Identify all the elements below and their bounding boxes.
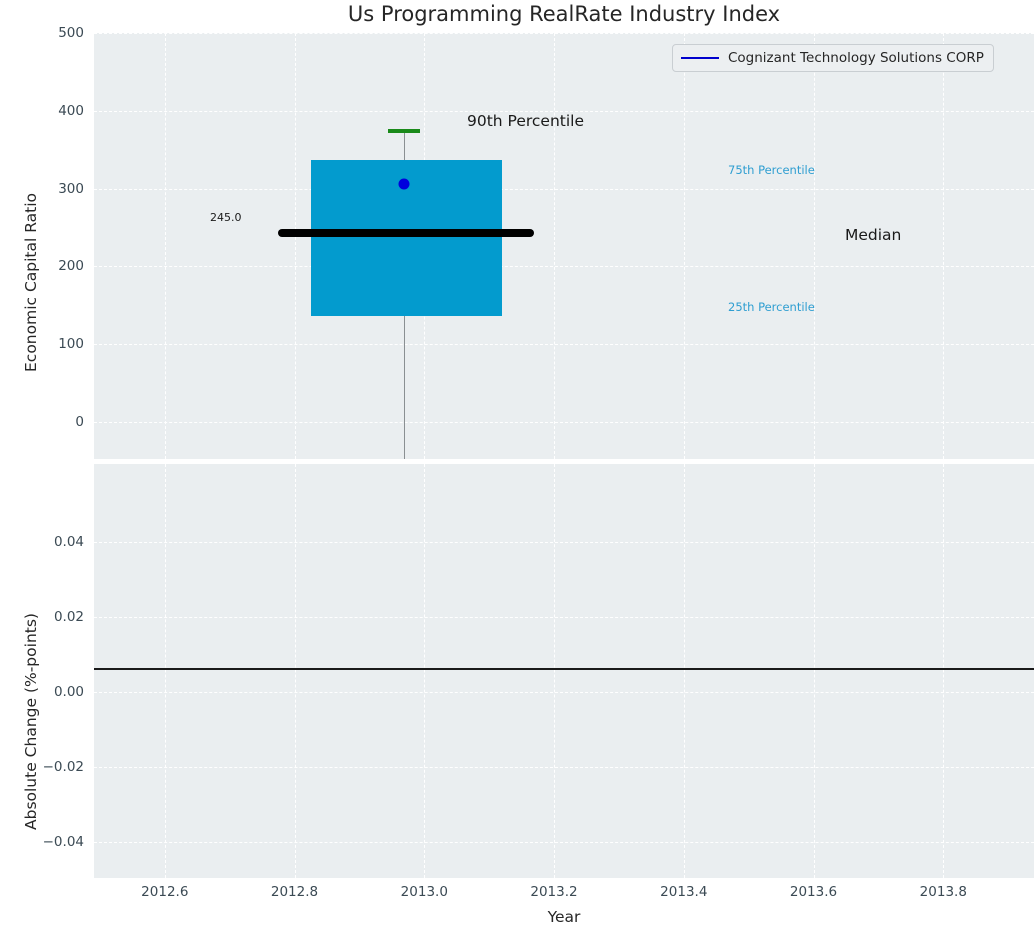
gridline-v <box>424 464 425 878</box>
figure: Us Programming RealRate Industry Index 2… <box>0 0 1034 942</box>
gridline-v <box>814 464 815 878</box>
gridline-h <box>94 842 1034 843</box>
legend-item-label: Cognizant Technology Solutions CORP <box>728 50 984 66</box>
gridline-v <box>165 33 166 459</box>
xtick-label: 2012.8 <box>271 884 318 900</box>
gridline-v <box>684 33 685 459</box>
annotation-25th-percentile: 25th Percentile <box>728 300 815 314</box>
gridline-h <box>94 266 1034 267</box>
xtick-label: 2013.2 <box>530 884 577 900</box>
gridline-h <box>94 189 1034 190</box>
absolute-change-plot-area <box>94 464 1034 878</box>
ytick-label: 0.04 <box>0 534 84 550</box>
gridline-v <box>684 464 685 878</box>
yaxis-label-economic-capital-ratio: Economic Capital Ratio <box>22 193 40 372</box>
ytick-label: −0.02 <box>0 759 84 775</box>
ytick-label: −0.04 <box>0 834 84 850</box>
xtick-label: 2013.4 <box>660 884 707 900</box>
gridline-h <box>94 617 1034 618</box>
xaxis-label-year: Year <box>94 908 1034 926</box>
median-line <box>278 229 534 237</box>
ytick-label: 200 <box>0 258 84 274</box>
gridline-v <box>165 464 166 878</box>
annotation-75th-percentile: 75th Percentile <box>728 163 815 177</box>
ytick-label: 0.00 <box>0 684 84 700</box>
yaxis-label-absolute-change: Absolute Change (%-points) <box>22 613 40 830</box>
annotation-median: Median <box>845 226 901 244</box>
ytick-label: 500 <box>0 25 84 41</box>
annotation-90th-percentile: 90th Percentile <box>467 112 584 130</box>
gridline-v <box>814 33 815 459</box>
legend[interactable]: Cognizant Technology Solutions CORP <box>672 44 994 72</box>
xtick-label: 2012.6 <box>141 884 188 900</box>
gridline-v <box>295 464 296 878</box>
gridline-h <box>94 422 1034 423</box>
ytick-label: 300 <box>0 181 84 197</box>
gridline-v <box>943 33 944 459</box>
gridline-h <box>94 33 1034 34</box>
whisker-cap-90th <box>388 129 420 133</box>
ytick-label: 400 <box>0 103 84 119</box>
gridline-v <box>554 464 555 878</box>
ytick-label: 0 <box>0 414 84 430</box>
gridline-h <box>94 767 1034 768</box>
zero-reference-line <box>94 668 1034 670</box>
gridline-h <box>94 344 1034 345</box>
series-point-cognizant <box>399 179 410 190</box>
xtick-label: 2013.6 <box>790 884 837 900</box>
annotation-median-value: 245.0 <box>210 211 242 224</box>
page-title: Us Programming RealRate Industry Index <box>94 2 1034 26</box>
ytick-label: 0.02 <box>0 609 84 625</box>
economic-capital-ratio-plot-area: 245.0 90th Percentile 75th Percentile Me… <box>94 33 1034 459</box>
legend-line-icon <box>681 57 719 59</box>
gridline-h <box>94 542 1034 543</box>
gridline-v <box>554 33 555 459</box>
gridline-h <box>94 692 1034 693</box>
xtick-label: 2013.8 <box>920 884 967 900</box>
ytick-label: 100 <box>0 336 84 352</box>
gridline-v <box>943 464 944 878</box>
gridline-v <box>295 33 296 459</box>
xtick-label: 2013.0 <box>401 884 448 900</box>
